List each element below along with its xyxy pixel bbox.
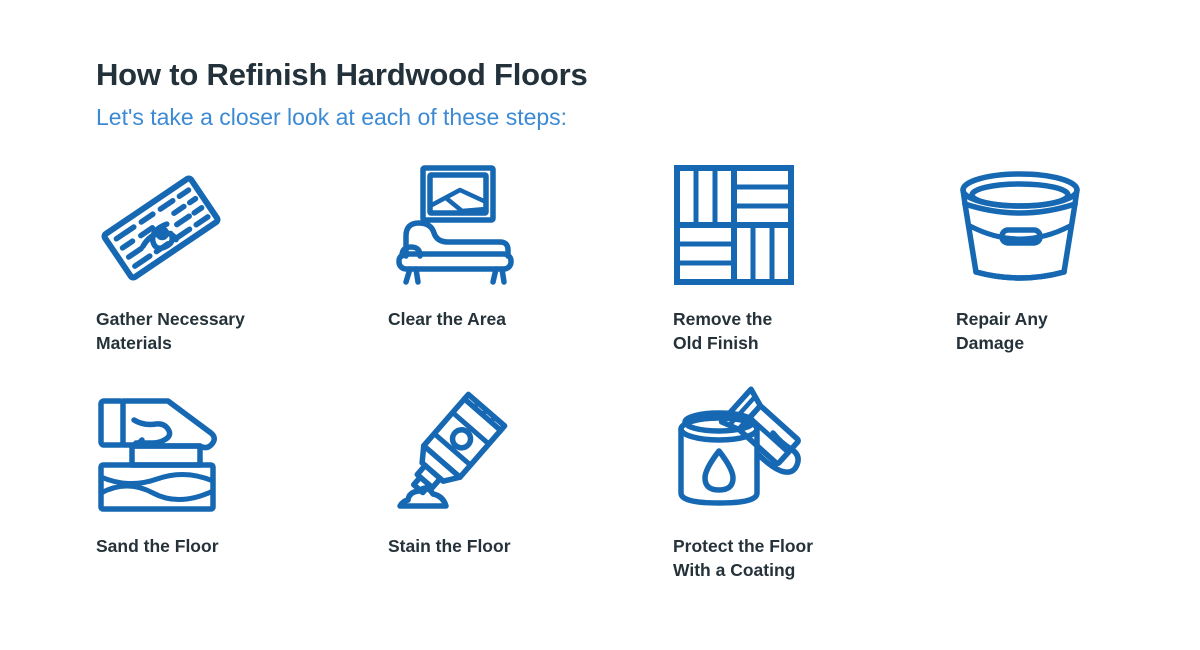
paint-can-brush-icon (673, 391, 923, 511)
step-card-stain-the-floor: Stain the Floor (388, 391, 638, 559)
step-label: Gather Necessary Materials (96, 308, 311, 355)
step-label: Sand the Floor (96, 535, 311, 559)
step-card-repair-any-damage: Repair Any Damage (956, 166, 1200, 355)
page-subtitle: Let's take a closer look at each of thes… (96, 104, 1116, 132)
bucket-icon (956, 166, 1200, 286)
infographic-canvas: How to Refinish Hardwood Floors Let's ta… (0, 0, 1200, 650)
step-card-sand-the-floor: Sand the Floor (96, 391, 346, 559)
step-label: Repair Any Damage (956, 308, 1171, 355)
steps-grid: Gather Necessary Materials (0, 166, 1200, 616)
page-title: How to Refinish Hardwood Floors (96, 58, 1116, 92)
sofa-with-picture-icon (388, 166, 638, 286)
parquet-floor-icon (673, 166, 923, 286)
step-label: Clear the Area (388, 308, 603, 332)
header: How to Refinish Hardwood Floors Let's ta… (96, 58, 1116, 132)
step-card-clear-the-area: Clear the Area (388, 166, 638, 332)
step-card-protect-the-floor-with-a-coating: Protect the Floor With a Coating (673, 391, 923, 582)
steps-row-1: Gather Necessary Materials (0, 166, 1200, 391)
step-label: Protect the Floor With a Coating (673, 535, 888, 582)
step-label: Stain the Floor (388, 535, 603, 559)
wood-plank-icon (96, 166, 346, 286)
step-card-gather-necessary-materials: Gather Necessary Materials (96, 166, 346, 355)
stain-tube-icon (388, 391, 638, 511)
steps-row-2: Sand the Floor (0, 391, 1200, 616)
step-label: Remove the Old Finish (673, 308, 888, 355)
step-card-remove-the-old-finish: Remove the Old Finish (673, 166, 923, 355)
hand-sanding-block-icon (96, 391, 346, 511)
